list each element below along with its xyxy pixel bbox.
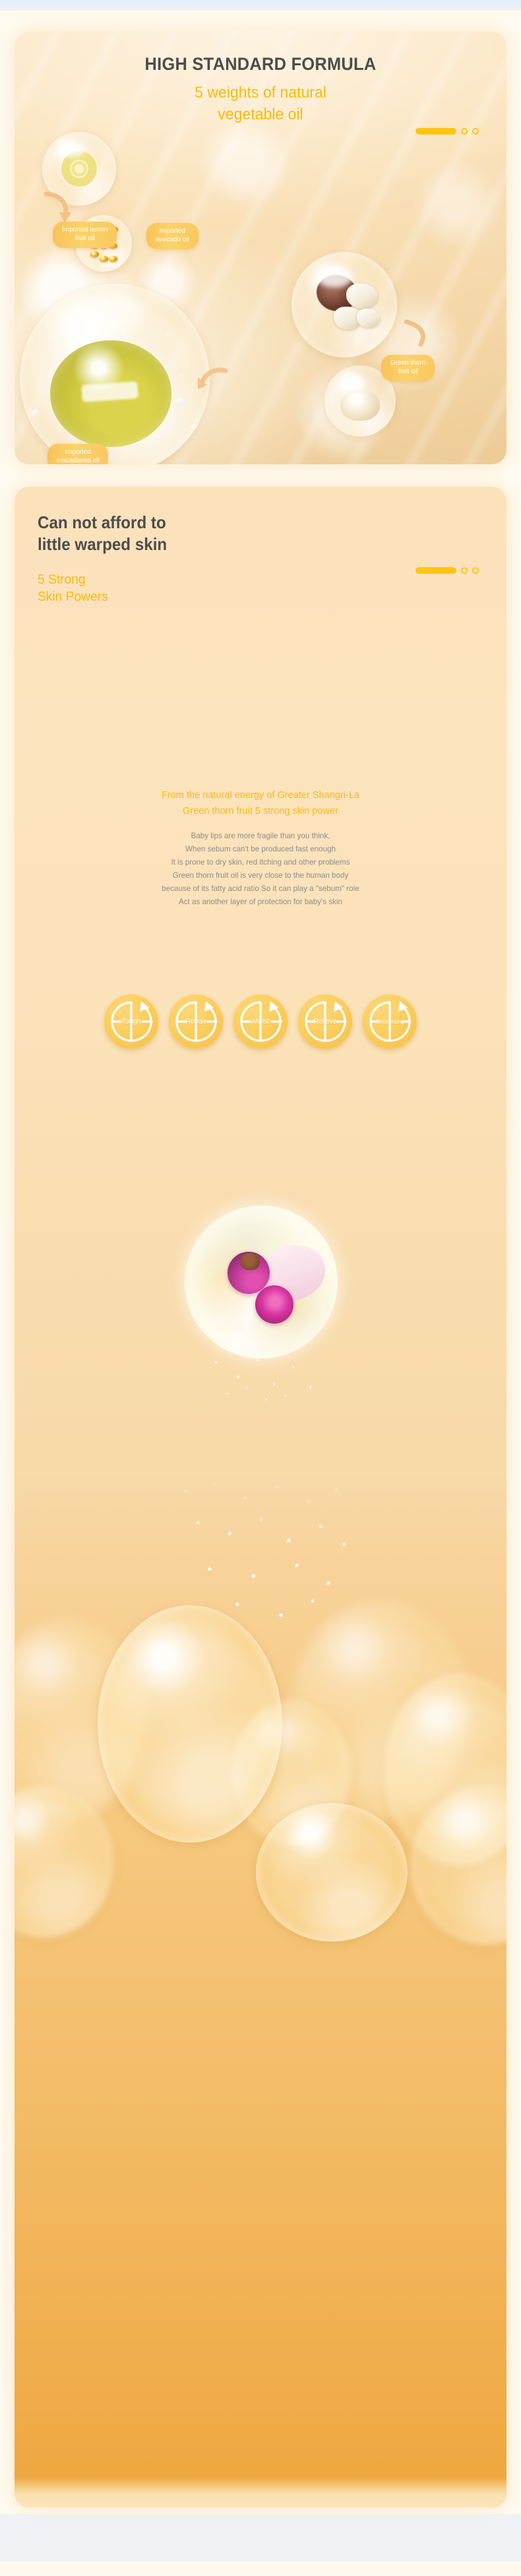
water-spray-decoration [191, 1351, 330, 1410]
formula-subheading: 5 weights of natural vegetable oil [24, 82, 497, 125]
formula-heading: HIGH STANDARD FORMULA [29, 54, 491, 75]
formula-title-group: HIGH STANDARD FORMULA 5 weights of natur… [15, 54, 506, 125]
skin-power-card: Can not afford to little warped skin 5 S… [15, 487, 506, 2507]
subheading-line-1: 5 Strong [38, 571, 171, 589]
formula-subheading-line-1: 5 weights of natural [24, 82, 497, 104]
oil-droplet-main [98, 1605, 282, 1843]
progress-bar-filled [415, 128, 456, 135]
label-line-2: fruit oil [390, 368, 425, 377]
badge-label: Repair [169, 1018, 223, 1026]
pointer-arrow-icon [401, 319, 429, 348]
formula-subheading-line-2: vegetable oil [24, 104, 497, 125]
oil-bottom-fade [15, 2477, 506, 2507]
body-line: because of its fatty acid ratio So it ca… [22, 882, 499, 896]
skin-power-lead-text: From the natural energy of Greater Shang… [22, 787, 499, 820]
progress-dot-1[interactable] [461, 128, 468, 135]
progress-dot-2[interactable] [472, 567, 479, 574]
green-thorn-oil-bubble-large [20, 284, 210, 464]
formula-progress-indicator[interactable] [415, 128, 479, 135]
body-line: It is prone to dry skin, red itching and… [22, 856, 499, 869]
berry-fruit-icon [255, 1285, 293, 1324]
lead-line-1: From the natural energy of Greater Shang… [22, 787, 499, 803]
body-line: When sebum can't be produced fast enough [22, 843, 499, 856]
lead-line-2: Green thorn fruit 5 strong skin power [22, 803, 499, 819]
badge-label: Moisturizing [363, 1018, 417, 1025]
badge-tough[interactable]: Tough [104, 995, 158, 1049]
label-imported-avocado-oil[interactable]: Imported avocado oil [146, 223, 199, 249]
progress-dot-1[interactable] [461, 567, 468, 574]
bubble-highlight [342, 375, 366, 390]
subheading-line-2: Skin Powers [38, 588, 171, 606]
pointer-arrow-icon [42, 191, 73, 226]
badge-relieve[interactable]: Relieve [298, 995, 352, 1049]
label-line-1: Green thorn [390, 359, 425, 368]
label-green-thorn-fruit-oil[interactable]: Green thorn fruit oil [381, 355, 435, 381]
progress-dot-2[interactable] [472, 128, 479, 135]
badge-label: Relieve [298, 1018, 352, 1026]
badge-repair[interactable]: Repair [169, 995, 223, 1049]
berry-stem-tip [240, 1253, 259, 1270]
label-imported-macadamia-oil[interactable]: Imported macadamia oil [47, 444, 108, 464]
badge-label: Tough [104, 1018, 158, 1026]
pointer-arrow-icon [197, 367, 228, 393]
oil-sheen-highlight [81, 381, 138, 402]
top-blue-strip [0, 0, 521, 11]
body-line: Act as another layer of protection for b… [22, 896, 499, 909]
avocado-flesh-chunk [346, 284, 378, 309]
body-line: Baby lips are more fragile than you thin… [22, 830, 499, 843]
label-line-2: avocado oil [156, 236, 189, 245]
label-imported-lemon-fruit-oil[interactable]: Imported lemon fruit oil [53, 222, 117, 248]
skin-power-title-group: Can not afford to little warped skin 5 S… [38, 512, 177, 606]
avocado-flesh-chunk [357, 309, 380, 328]
berry-fruit-icon [228, 1252, 270, 1294]
green-oil-core [50, 340, 171, 446]
badge-moisturizing[interactable]: Moisturizing [363, 995, 417, 1049]
bottom-cream-strip [0, 2561, 521, 2576]
lemon-slice-icon [61, 151, 97, 187]
skin-power-subheading: 5 Strong Skin Powers [38, 571, 171, 607]
label-line-2: fruit oil [62, 235, 107, 243]
badge-label: Moist [233, 1018, 288, 1026]
oil-top-fade [15, 1476, 506, 1555]
avocado-oil-bubble [291, 252, 397, 357]
label-line-1: Imported [57, 448, 99, 457]
heading-line-2: little warped skin [38, 534, 167, 555]
bubble-highlight [60, 142, 85, 157]
skin-power-body-text: Baby lips are more fragile than you thin… [22, 830, 499, 908]
heading-line-1: Can not afford to [38, 512, 167, 534]
badge-moist[interactable]: Moist [233, 995, 288, 1049]
body-line: Green thorn fruit oil is very close to t… [22, 869, 499, 882]
high-standard-formula-card: HIGH STANDARD FORMULA 5 weights of natur… [15, 32, 506, 464]
skin-power-heading: Can not afford to little warped skin [38, 512, 167, 555]
oil-droplets-background [15, 1476, 506, 2507]
power-badges-row: Tough Repair Moi [15, 995, 506, 1049]
label-line-1: Imported [156, 228, 189, 236]
label-line-2: macadamia oil [57, 457, 99, 464]
green-thorn-berry-bubble [185, 1206, 338, 1359]
skin-power-progress-indicator[interactable] [415, 567, 479, 574]
oil-droplet [256, 1803, 408, 1942]
label-line-1: Imported lemon [62, 226, 107, 235]
macadamia-nut-icon [340, 390, 380, 421]
progress-bar-filled [415, 567, 456, 574]
